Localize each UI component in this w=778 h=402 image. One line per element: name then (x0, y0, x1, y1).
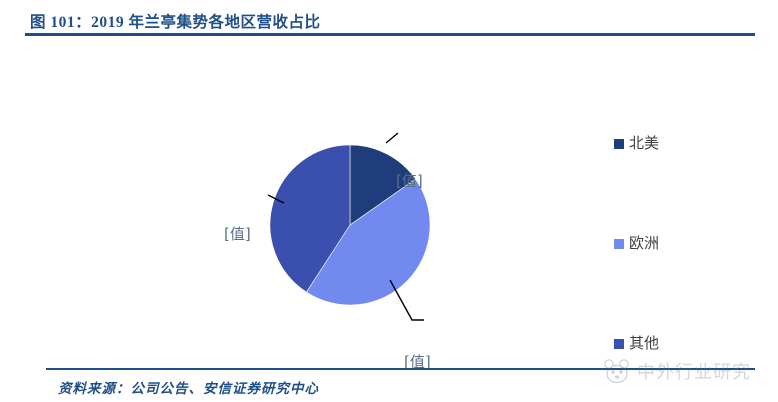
legend-item-north-america[interactable]: 北美 (614, 136, 659, 151)
legend-swatch-icon-other (614, 339, 624, 349)
watermark: 中外行业研究 (600, 352, 775, 390)
legend-label-europe: 欧洲 (629, 236, 659, 251)
source-note: 资料来源：公司公告、安信证券研究中心 (58, 377, 319, 397)
pie-data-label-other: [值] (224, 223, 251, 244)
figure-title: 图 101：2019 年兰亭集势各地区营收占比 (30, 10, 321, 32)
panda-logo-icon (600, 356, 634, 386)
chart-plot-area: [值] [值] [值] 北美 欧洲 其他 (0, 40, 778, 360)
legend-item-europe[interactable]: 欧洲 (614, 236, 659, 251)
pie-slice-group (270, 145, 430, 305)
title-divider (25, 33, 755, 36)
legend-swatch-icon-north-america (614, 139, 624, 149)
watermark-text: 中外行业研究 (637, 358, 751, 384)
legend-label-north-america: 北美 (629, 136, 659, 151)
figure-container: 图 101：2019 年兰亭集势各地区营收占比 [值] [值] [值] 北美 (0, 0, 778, 402)
chart-legend: 北美 欧洲 其他 (614, 120, 754, 370)
legend-swatch-icon-europe (614, 239, 624, 249)
legend-label-other: 其他 (629, 336, 659, 351)
leader-line-north-america (386, 133, 398, 143)
pie-data-label-north-america: [值] (396, 170, 423, 191)
legend-item-other[interactable]: 其他 (614, 336, 659, 351)
